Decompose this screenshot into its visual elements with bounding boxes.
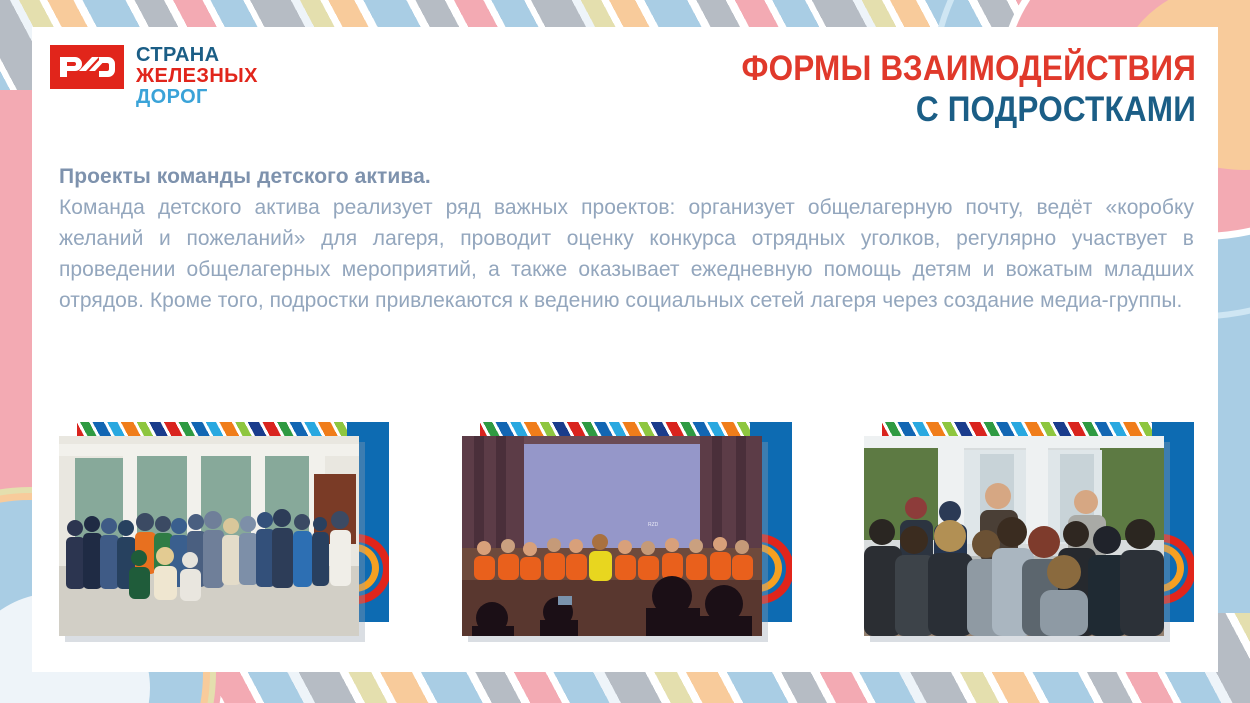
photo-3-outdoor-gathering — [864, 436, 1164, 636]
svg-text:RZD: RZD — [648, 522, 659, 528]
photo-frame-1 — [59, 422, 389, 640]
brand-lockup-line-2: ЖЕЛЕЗНЫХ — [136, 66, 258, 87]
slide-header: СТРАНА ЖЕЛЕЗНЫХ ДОРОГ ФОРМЫ ВЗАИМОДЕЙСТВ… — [32, 27, 1218, 139]
photo-2-stage-performance: RZD — [462, 436, 762, 636]
rzd-logo-icon — [50, 45, 124, 89]
photo-1-outdoor-group — [59, 436, 359, 636]
presentation-slide: СТРАНА ЖЕЛЕЗНЫХ ДОРОГ ФОРМЫ ВЗАИМОДЕЙСТВ… — [0, 0, 1250, 703]
brand-logo-lockup: СТРАНА ЖЕЛЕЗНЫХ ДОРОГ — [50, 45, 258, 109]
page-title-line-1: ФОРМЫ ВЗАИМОДЕЙСТВИЯ — [741, 49, 1196, 90]
photo-frame-3 — [864, 422, 1194, 640]
brand-lockup-line-3: ДОРОГ — [136, 87, 258, 108]
slide-content-card: СТРАНА ЖЕЛЕЗНЫХ ДОРОГ ФОРМЫ ВЗАИМОДЕЙСТВ… — [32, 27, 1218, 672]
brand-lockup-line-1: СТРАНА — [136, 45, 258, 66]
photo-gallery: RZD — [59, 422, 1194, 647]
body-paragraph: Команда детского актива реализует ряд ва… — [59, 193, 1194, 316]
slide-body: Проекты команды детского актива. Команда… — [59, 165, 1194, 316]
page-title-line-2: С ПОДРОСТКАМИ — [741, 90, 1196, 131]
body-lead-text: Проекты команды детского актива. — [59, 165, 1194, 189]
photo-frame-2: RZD — [462, 422, 792, 640]
page-title: ФОРМЫ ВЗАИМОДЕЙСТВИЯ С ПОДРОСТКАМИ — [741, 49, 1196, 131]
brand-lockup-text: СТРАНА ЖЕЛЕЗНЫХ ДОРОГ — [136, 45, 258, 109]
